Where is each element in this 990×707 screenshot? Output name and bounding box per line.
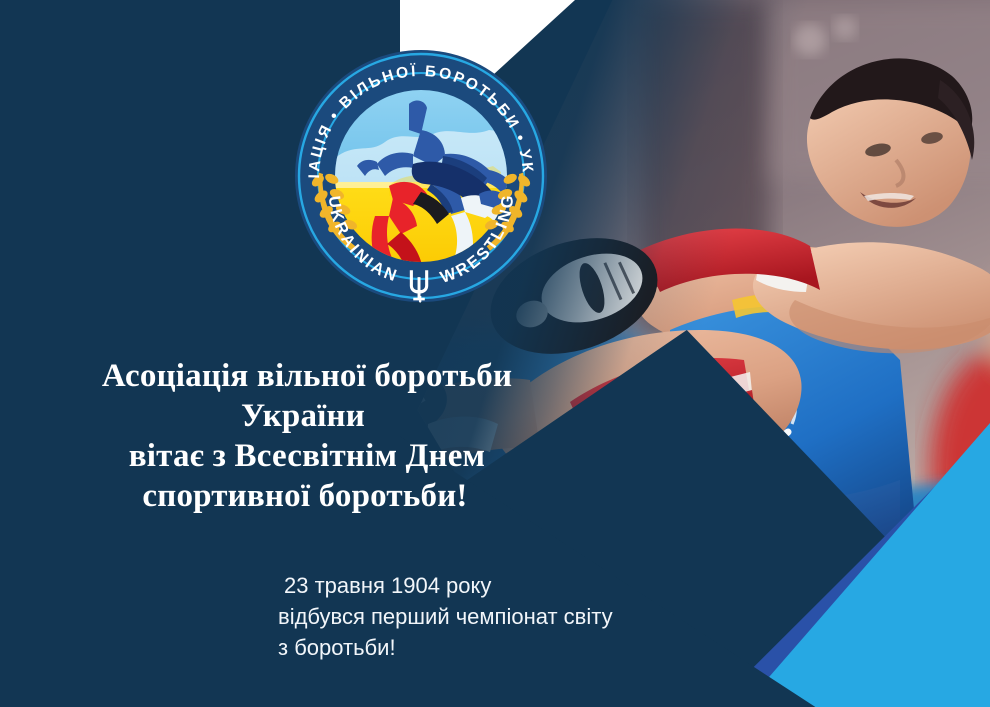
headline-line-4: спортивної боротьби! bbox=[10, 476, 600, 516]
subtext-line-2: відбувся перший чемпіонат світу bbox=[278, 601, 748, 632]
poster-canvas: АСОЦІАЦІЯ • ВІЛЬНОЇ БОРОТЬБИ • УКРАЇНИ U… bbox=[0, 0, 990, 707]
headline-line-1: Асоціація вільної боротьби bbox=[14, 356, 600, 396]
headline-line-3: вітає з Всесвітнім Днем bbox=[14, 436, 600, 476]
headline-block: Асоціація вільної боротьби України вітає… bbox=[0, 356, 600, 516]
subtext-block: 23 травня 1904 року відбувся перший чемп… bbox=[278, 570, 748, 663]
headline-line-2: України bbox=[6, 396, 600, 436]
subtext-line-3: з боротьби! bbox=[278, 632, 748, 663]
subtext-line-1: 23 травня 1904 року bbox=[284, 570, 748, 601]
association-logo: АСОЦІАЦІЯ • ВІЛЬНОЇ БОРОТЬБИ • УКРАЇНИ U… bbox=[293, 46, 549, 306]
